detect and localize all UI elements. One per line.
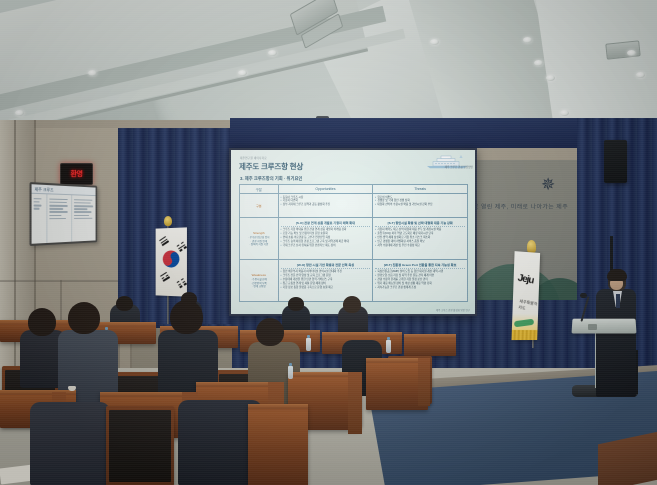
jeju-flag-subtext: 제주특별자치도 — [518, 298, 539, 313]
wall-monitor-content — [32, 194, 96, 246]
desk-side-panel — [348, 372, 362, 434]
audience-head — [170, 300, 203, 334]
swot-bullet: 크루즈 전문 인력 양성 및 교육 프로그램 운영 — [283, 274, 331, 277]
swot-bullet: 크루즈 승객 체류형 관광 프로그램 구축 및 지역경제 파급 확대 — [283, 240, 349, 243]
swot-cell-banner: [W-T] 친환경 Green Port 전환을 통한 지속 가능성 확보 — [375, 262, 465, 269]
audience-head — [256, 318, 284, 346]
slide-logo-caption: 제주 크루즈 관광 발전방안 — [445, 165, 473, 169]
korea-flag-finial — [164, 216, 172, 226]
swot-col-header-2: Threats — [373, 185, 467, 193]
swot-bullet: 지속가능한 크루즈 관광 생태계 조성 — [377, 286, 416, 289]
water-bottle — [386, 340, 391, 353]
swot-bullet: 인근 경쟁항 대비 차별화된 서비스 품질 확보 — [377, 240, 424, 243]
downlight-icon — [627, 50, 636, 56]
jeju-flag-finial — [527, 240, 536, 253]
presenter-tie — [616, 294, 620, 308]
audience-chair — [106, 406, 174, 485]
mural-slogan: 세계로 열린 제주, 미래로 나아가는 제주 — [461, 202, 581, 210]
wall-speaker-icon — [604, 140, 627, 183]
desk-side-panel — [418, 358, 430, 406]
trigram-ri — [160, 272, 167, 276]
water-bottle — [306, 338, 311, 351]
downlight-icon — [546, 75, 555, 81]
audience-desk — [248, 404, 308, 485]
trigram-gon — [177, 278, 184, 282]
audience-head — [68, 302, 100, 334]
swot-bullet: 기항 정보 통합 플랫폼 구축으로 운영 효율 제고 — [283, 286, 333, 289]
downlight-icon — [560, 110, 569, 116]
audience-desk — [404, 334, 456, 356]
led-sign-line1: 환영 — [71, 171, 83, 178]
swot-bullet: 크루즈 기항 확대를 위한 관광 연계 상품 개발과 마케팅 강화 — [283, 228, 347, 231]
slide-footer: 제주 크루즈 관광 활성화 방안 연구 — [436, 308, 470, 312]
swot-bullet: 위기 대응 매뉴얼 정비 및 비상 상황 대응 역량 강화 — [377, 282, 431, 285]
swot-bullet: 지역 수용태세 개선 및 주민 수용성 제고 — [377, 244, 420, 247]
jeju-flag: Jeju 제주특별자치도 — [512, 251, 541, 340]
wall-seam — [0, 280, 132, 282]
downlight-icon — [636, 72, 645, 78]
swot-bullet: 출입국(CIQ) 처리 역량 고도화로 체류 대기시간 단축 — [377, 232, 433, 235]
downlight-icon — [238, 70, 247, 76]
swot-row-sub-2: · 정책적 지원 기반 — [249, 243, 268, 246]
swot-table-row: Weakness · 수용시설 한계 · 전문인력 부족 · 연계 교통망 [W… — [240, 260, 467, 301]
trigram-geon — [159, 236, 166, 240]
slide-subtitle: 3. 제주 크루즈항의 기회 · 위기요인 — [240, 176, 302, 182]
podium-cable — [636, 350, 638, 394]
swot-table-row: 구분 ▪동북아 크루즈 시장 ▪기항지 다변화 ▪정부·지자체 크루즈 정책과 … — [240, 194, 467, 218]
swot-cell-banner: [S-T] 항만시설 확충 및 선박 대형화 대응 기능 강화 — [375, 220, 465, 227]
led-welcome-sign: 환영 — [60, 163, 93, 185]
swot-bullet: 대형화 선박의 수용시설 확충 및 기반시설 강화 부담 — [377, 203, 432, 206]
swot-cell-banner: [S-O] 관광 연계 상품 개발로 기항지 매력 확대 — [281, 220, 371, 227]
swot-cell-threats: [S-T] 항만시설 확충 및 선박 대형화 대응 기능 강화 ▪기항지 매력도… — [373, 218, 467, 259]
downlight-icon — [268, 50, 277, 56]
swot-bullet: 국제 크루즈 선사 유치를 위한 인센티브 제도 정비 — [283, 244, 336, 247]
swot-bullet: 항만 배후부지 확충과 여객터미널 편의시설 현대화 추진 — [283, 270, 342, 273]
swot-cell-threats: ▪항로의 의존도 ▪경쟁항 및 국내 항만 경쟁 심화 ▪대형화 선박의 수용시… — [373, 194, 467, 217]
swot-col-header-0: 구분 — [240, 185, 279, 193]
downlight-icon — [430, 39, 439, 45]
downlight-icon — [534, 60, 543, 66]
snowflake-icon: ✵ — [541, 176, 559, 194]
conference-room-photo: ✵ 세계로 열린 제주, 미래로 나아가는 제주 4 환영 제주 크루즈 — [0, 0, 657, 485]
presenter-hair — [607, 269, 627, 281]
projection-screen: 제주연구원 세미나자료 제주도 크루즈항 현상 제주 크루즈 관광 발전방안 3… — [229, 148, 477, 316]
swot-bullet: 관광 수용력 한계를 고려한 기항 일정 분산 관리 — [377, 278, 427, 281]
swot-row-label-text: Weakness — [252, 273, 266, 277]
swot-table-row: Strength · 우수한 접근성 입지 · 관광 자원 연계 · 정책적 지… — [240, 218, 467, 260]
swot-bullet: 수용태세 개선을 위한 민관 협력 거버넌스 구축 — [283, 278, 333, 281]
downlight-icon — [15, 110, 24, 116]
slide-title: 제주도 크루즈항 현상 — [239, 161, 303, 172]
wall-monitor: 제주 크루즈 — [30, 182, 98, 246]
swot-cell-opportunities: ▪동북아 크루즈 시장 ▪기항지 다변화 ▪정부·지자체 크루즈 정책과 공동 … — [279, 194, 374, 217]
downlight-icon — [88, 70, 97, 76]
swot-bullet: 모항 기능 확보 및 전용터미널 운영 효율화 — [283, 232, 328, 235]
water-bottle — [288, 366, 293, 379]
swot-row-label: 구분 — [240, 194, 279, 217]
swot-row-label: Weakness · 수용시설 한계 · 전문인력 부족 · 연계 교통망 — [240, 260, 279, 301]
curtain-valance — [230, 118, 582, 148]
korea-flag — [156, 227, 187, 296]
swot-row-label: Strength · 우수한 접근성 입지 · 관광 자원 연계 · 정책적 지… — [240, 218, 279, 259]
swot-bullet: 정부·지자체 크루즈 정책과 공동 활성화 추진 — [283, 203, 330, 206]
swot-bullet: 접근 교통망 연계 및 셔틀 운영 체계 정비 — [283, 282, 326, 285]
jeju-flag-accent — [514, 319, 534, 328]
swot-bullet: 면세·쇼핑·의료관광 등 고부가 연관산업 육성 — [283, 236, 331, 239]
swot-cell-opportunities: [W-O] 항만·시설 기반 확충과 전문 인력 육성 ▪항만 배후부지 확충과… — [279, 260, 374, 301]
wall-monitor-col — [72, 195, 95, 245]
trigram-gam — [177, 242, 184, 246]
podium-microphone-icon — [580, 293, 587, 298]
audience-head — [28, 308, 56, 336]
jeju-flag-word: Jeju — [517, 273, 534, 287]
swot-cell-opportunities: [S-O] 관광 연계 상품 개발로 기항지 매력 확대 ▪크루즈 기항 확대를… — [279, 218, 374, 259]
wall-monitor-col — [32, 194, 47, 246]
audience-head — [343, 296, 361, 313]
downlight-icon — [523, 37, 532, 43]
swot-bullet: 환경오염·소음 저감 및 지역 주민 갈등 관리 체계 마련 — [377, 274, 434, 277]
audience-person — [30, 402, 110, 485]
swot-cell-banner: [W-O] 항만·시설 기반 확충과 전문 인력 육성 — [281, 262, 371, 269]
swot-row-label-text: Strength — [253, 231, 265, 235]
swot-bullet: 육상전원공급(AMP) 설비 도입 등 항만 대기질 개선 대책 시행 — [377, 270, 443, 273]
swot-table: 구분 Opportunities Threats 구분 ▪동북아 크루즈 시장 … — [239, 184, 468, 302]
jeju-flag-fringe — [512, 330, 538, 340]
swot-table-header: 구분 Opportunities Threats — [240, 185, 467, 194]
swot-bullet: 안전·방역 체계 상설화로 기항 취소 리스크 최소화 — [377, 236, 430, 239]
swot-row-sub-2: · 연계 교통망 — [252, 285, 266, 288]
wall-monitor-col — [47, 194, 72, 246]
swot-cell-threats: [W-T] 친환경 Green Port 전환을 통한 지속 가능성 확보 ▪육… — [373, 260, 467, 301]
audience-head — [288, 297, 304, 311]
swot-bullet: 기항지 매력도 제고·선박 대형화 대응 부두 및 계류시설 확충 — [377, 228, 441, 231]
slide-surface: 제주연구원 세미나자료 제주도 크루즈항 현상 제주 크루즈 관광 발전방안 3… — [231, 150, 475, 314]
podium-emblem — [588, 324, 597, 330]
audience-head — [116, 296, 133, 311]
slide-topline: 제주연구원 세미나자료 — [240, 156, 267, 160]
swot-col-header-1: Opportunities — [279, 185, 374, 193]
